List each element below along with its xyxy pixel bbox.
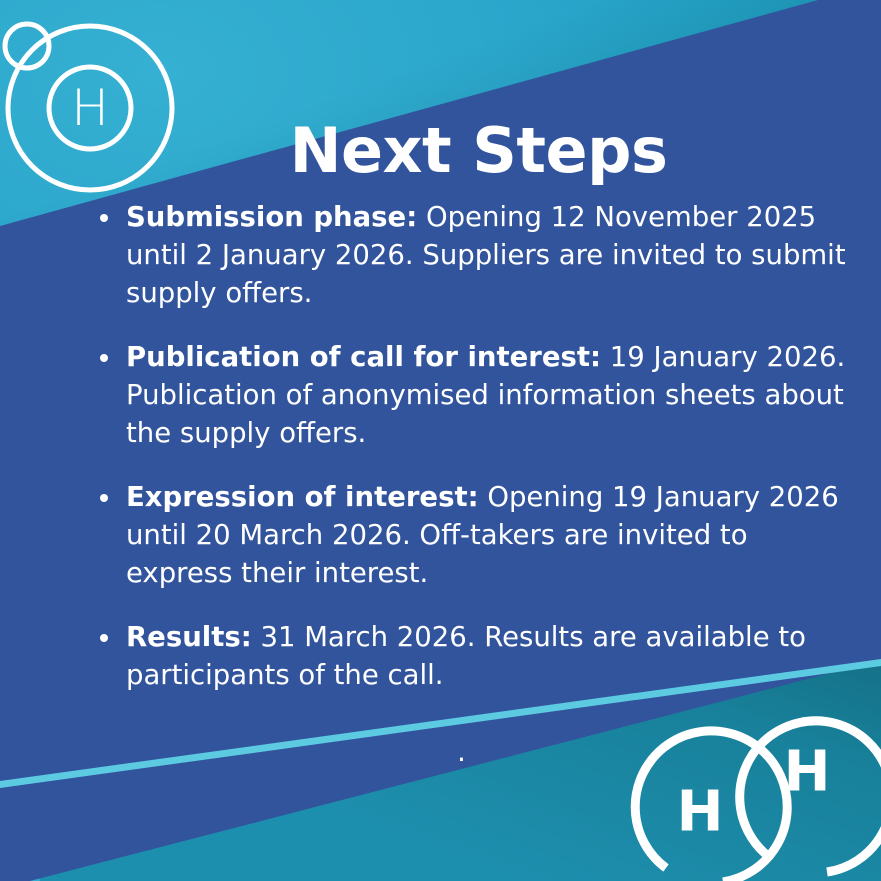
trailing-period: . xyxy=(457,738,466,766)
bullet-dot-icon xyxy=(100,214,108,222)
next-steps-list: Submission phase: Opening 12 November 20… xyxy=(96,198,846,720)
bullet-dot-icon xyxy=(100,494,108,502)
list-item: Submission phase: Opening 12 November 20… xyxy=(96,198,846,312)
list-item: Expression of interest: Opening 19 Janua… xyxy=(96,478,846,592)
bullet-dot-icon xyxy=(100,634,108,642)
list-item-lead: Results: xyxy=(126,621,252,653)
poster-content: Next Steps Submission phase: Opening 12 … xyxy=(0,0,881,881)
poster-canvas: H H H Next Steps Submission phase: Openi… xyxy=(0,0,881,881)
list-item-lead: Expression of interest: xyxy=(126,481,479,513)
page-title: Next Steps xyxy=(0,118,881,183)
list-item-lead: Publication of call for interest: xyxy=(126,341,601,373)
bullet-dot-icon xyxy=(100,354,108,362)
list-item-lead: Submission phase: xyxy=(126,201,417,233)
list-item: Publication of call for interest: 19 Jan… xyxy=(96,338,846,452)
list-item: Results: 31 March 2026. Results are avai… xyxy=(96,618,846,694)
